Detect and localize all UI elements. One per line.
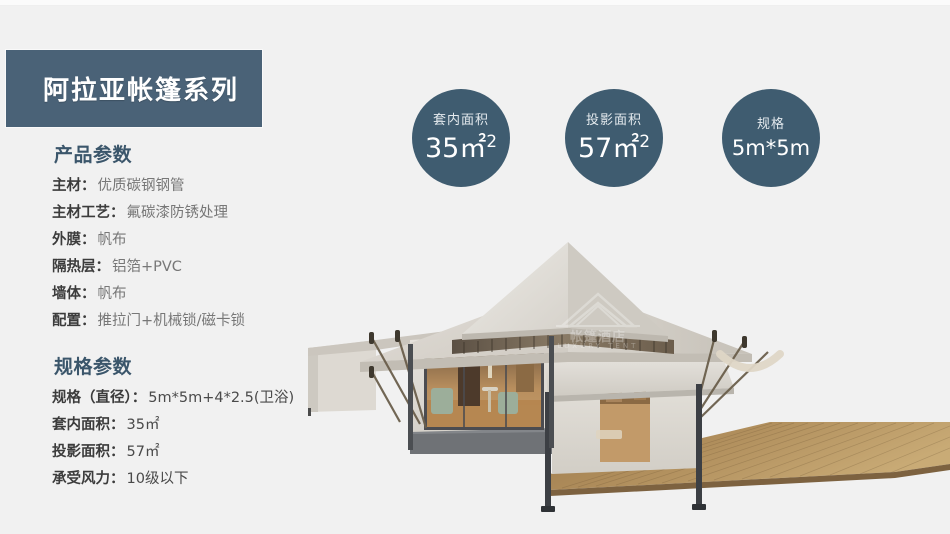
param-label: 外膜： (52, 232, 96, 248)
badge-unit: ㎡ (612, 133, 639, 164)
param-value: 57㎡ (127, 444, 160, 460)
param-value: 帆布 (98, 232, 127, 248)
param-value: 帆布 (98, 286, 127, 302)
spec-parameters-list: 规格（直径）：5m*5m+4*2.5(卫浴) 套内面积：35㎡ 投影面积：57㎡… (0, 385, 320, 493)
veranda-post-right-foot (692, 504, 706, 510)
param-value: 10级以下 (127, 471, 189, 487)
list-item: 套内面积：35㎡ (52, 412, 320, 439)
list-item: 隔热层：铝箔+PVC (52, 254, 320, 281)
badge-label: 规格 (757, 118, 785, 131)
param-value: 5m*5m+4*2.5(卫浴) (148, 390, 294, 406)
tent-render-svg (300, 232, 950, 534)
param-label: 承受风力： (52, 471, 125, 487)
upper-roof-left (462, 242, 568, 334)
wing-post-left (308, 408, 311, 416)
badge-number: 57 (578, 133, 612, 164)
interior-dark-cabinet (458, 362, 480, 406)
badge-value: 35㎡2 (425, 133, 497, 162)
badge-value: 5m*5m (732, 137, 810, 159)
side-wing-wall-shadow (308, 347, 318, 412)
badge-interior-area: 套内面积 35㎡2 (412, 89, 510, 187)
list-item: 外膜：帆布 (52, 227, 320, 254)
interior-sofa-left (431, 388, 453, 414)
window-corner-post (549, 336, 554, 448)
list-item: 投影面积：57㎡ (52, 439, 320, 466)
param-value: 35㎡ (127, 417, 160, 433)
param-label: 隔热层： (52, 259, 110, 275)
spec-parameters-heading: 规格参数 (54, 352, 320, 379)
param-value: 铝箔+PVC (112, 259, 182, 275)
wall-base-plinth (410, 432, 552, 454)
param-label: 墙体： (52, 286, 96, 302)
param-label: 套内面积： (52, 417, 125, 433)
badge-superscript: 2 (639, 131, 650, 151)
tent-illustration: 帐篷酒店 LUXURY TENT (300, 232, 950, 534)
param-label: 规格（直径）： (52, 390, 146, 406)
badge-unit: ㎡ (459, 133, 486, 164)
list-item: 规格（直径）：5m*5m+4*2.5(卫浴) (52, 385, 320, 412)
list-item: 墙体：帆布 (52, 281, 320, 308)
param-label: 投影面积： (52, 444, 125, 460)
param-label: 配置： (52, 313, 96, 329)
badge-number: 5m*5m (732, 136, 810, 160)
interior-shelf (516, 362, 534, 392)
badge-superscript: 2 (486, 131, 497, 151)
interior-sofa-right (498, 392, 518, 414)
spec-parameters-section: 规格参数 规格（直径）：5m*5m+4*2.5(卫浴) 套内面积：35㎡ 投影面… (0, 352, 320, 493)
list-item: 配置：推拉门+机械锁/磁卡锁 (52, 308, 320, 335)
badge-projected-area: 投影面积 57㎡2 (565, 89, 663, 187)
veranda-post-left-foot (541, 506, 555, 512)
veranda-rug (596, 430, 622, 439)
wall-corner-post (408, 344, 413, 450)
badge-number: 35 (425, 133, 459, 164)
param-value: 推拉门+机械锁/磁卡锁 (98, 313, 246, 329)
badge-dimensions: 规格 5m*5m (722, 89, 820, 187)
veranda-post-right (696, 384, 702, 508)
badge-label: 套内面积 (433, 114, 489, 127)
page-root: 阿拉亚帐篷系列 产品参数 主材：优质碳钢钢管 主材工艺：氟碳漆防锈处理 外膜：帆… (0, 0, 950, 534)
interior-table-leg (488, 390, 491, 412)
badge-value: 57㎡2 (578, 133, 650, 162)
stat-badges: 套内面积 35㎡2 投影面积 57㎡2 规格 5m*5m (0, 0, 950, 210)
list-item: 承受风力：10级以下 (52, 466, 320, 493)
badge-label: 投影面积 (586, 114, 642, 127)
